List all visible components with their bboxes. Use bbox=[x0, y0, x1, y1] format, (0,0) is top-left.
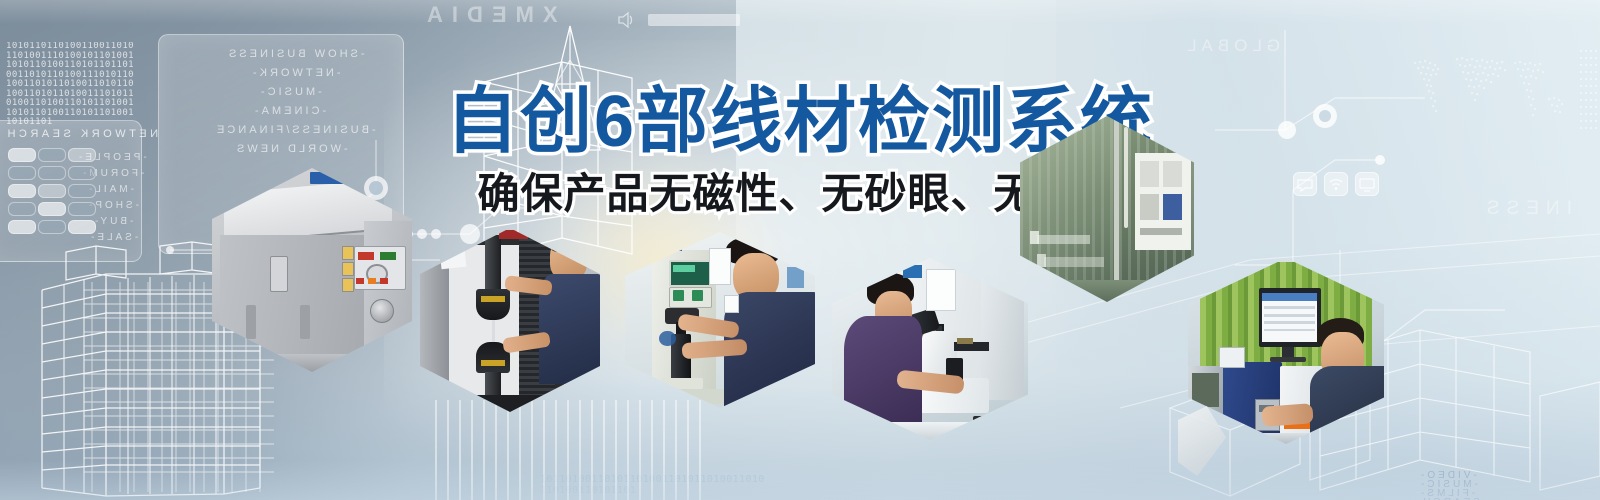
deco-label-sale: -SALE- bbox=[88, 232, 138, 243]
deco-label-global: GLOBAL bbox=[1182, 36, 1280, 56]
page-title: 自创6部线材检测系统 bbox=[0, 62, 1600, 167]
vignette-top bbox=[0, 0, 1600, 24]
deco-label-show-business: -SHOW BUSINESS bbox=[226, 48, 365, 60]
vignette-bottom bbox=[0, 460, 1600, 500]
banner-stage: -SHOW BUSINESS -NETWORK- -MUSIC- -CINEMA… bbox=[0, 0, 1600, 500]
